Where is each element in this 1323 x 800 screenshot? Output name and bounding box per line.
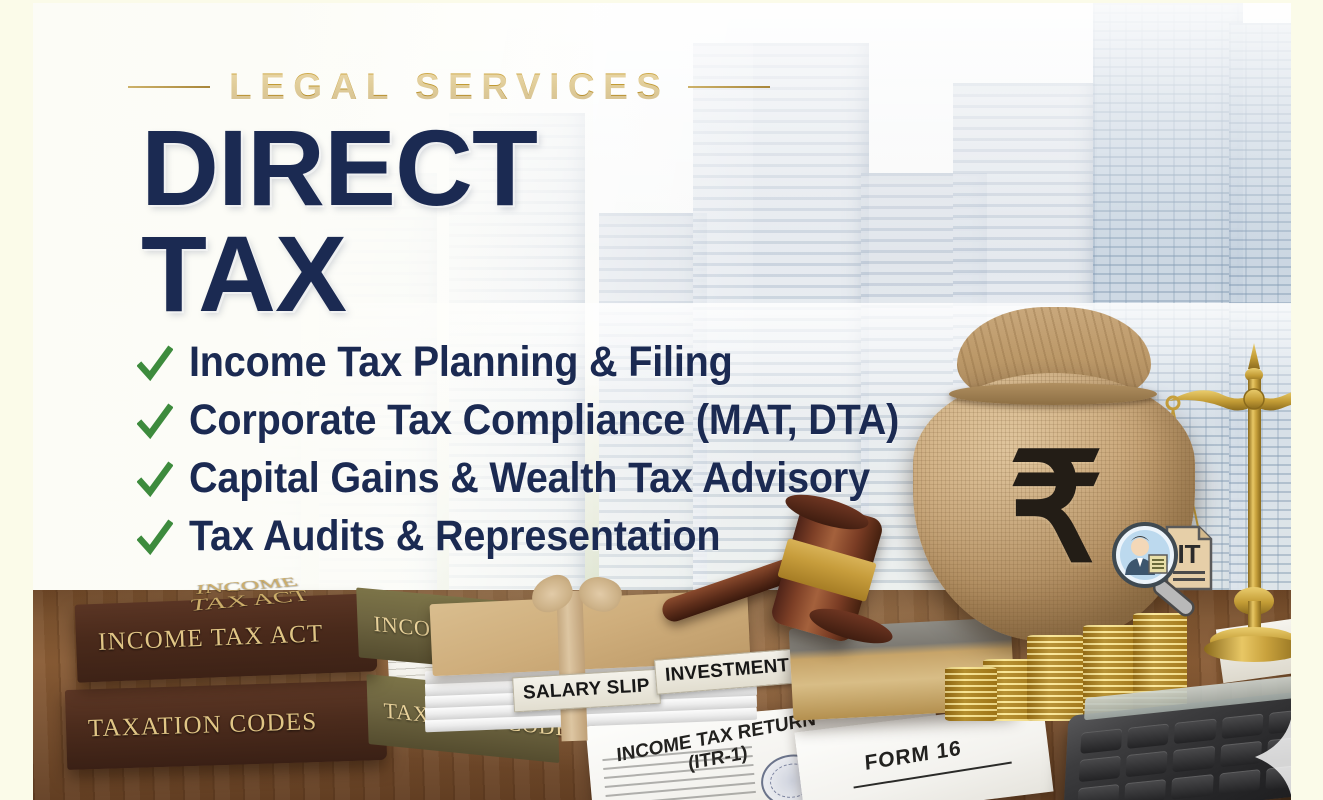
book-spine-label: INCOME TAX ACT — [98, 620, 324, 657]
calculator-key — [1174, 718, 1216, 744]
calculator-key — [1124, 779, 1166, 800]
rule-right-icon — [688, 86, 770, 88]
poster-root: LEGAL SERVICES DIRECT TAX Income Tax Pla… — [0, 0, 1323, 800]
coin-stack — [945, 667, 997, 721]
money-bag-tie — [949, 383, 1157, 405]
book-taxation-codes: TAXATION CODES TAXATION CODES — [65, 680, 387, 770]
service-label: Tax Audits & Representation — [189, 512, 720, 561]
it-audit-badge-icon: IT — [1107, 515, 1223, 619]
calculator-key — [1218, 769, 1260, 795]
rule-left-icon — [128, 86, 210, 88]
list-item: Capital Gains & Wealth Tax Advisory — [137, 449, 961, 507]
check-icon — [137, 518, 173, 558]
book-spine-label: TAXATION CODES — [88, 708, 318, 743]
book-income-tax-act: INCOME TAX ACT INCOME TAX ACT INCOME TAX… — [75, 593, 378, 682]
coin-stack — [1027, 635, 1085, 721]
poster-canvas: LEGAL SERVICES DIRECT TAX Income Tax Pla… — [33, 3, 1291, 800]
calculator-key — [1173, 746, 1215, 772]
calculator-key — [1126, 751, 1168, 777]
book-cover-label: INCOME TAX ACT — [188, 575, 313, 615]
service-label: Capital Gains & Wealth Tax Advisory — [189, 454, 870, 503]
sparkle-icon — [1255, 715, 1291, 799]
page-title: DIRECT TAX — [141, 115, 537, 327]
form16-title: FORM 16 — [864, 737, 962, 776]
eyebrow-group: LEGAL SERVICES — [128, 65, 770, 109]
check-icon — [137, 344, 173, 384]
service-label: Corporate Tax Compliance (MAT, DTA) — [189, 396, 899, 445]
calculator-key — [1080, 728, 1122, 754]
calculator-key — [1079, 756, 1121, 782]
calculator-key — [1077, 784, 1119, 800]
calculator-key — [1171, 774, 1213, 800]
title-line-2: TAX — [141, 221, 537, 327]
check-icon — [137, 460, 173, 500]
ribbon-bow — [533, 573, 619, 617]
eyebrow-label: LEGAL SERVICES — [229, 66, 669, 108]
list-item: Income Tax Planning & Filing — [137, 333, 961, 391]
calculator-key — [1127, 723, 1169, 749]
gavel-icon — [673, 503, 933, 673]
svg-text:IT: IT — [1177, 539, 1200, 569]
list-item: Corporate Tax Compliance (MAT, DTA) — [137, 391, 961, 449]
service-label: Income Tax Planning & Filing — [189, 338, 733, 387]
check-icon — [137, 402, 173, 442]
title-line-1: DIRECT — [141, 107, 537, 228]
